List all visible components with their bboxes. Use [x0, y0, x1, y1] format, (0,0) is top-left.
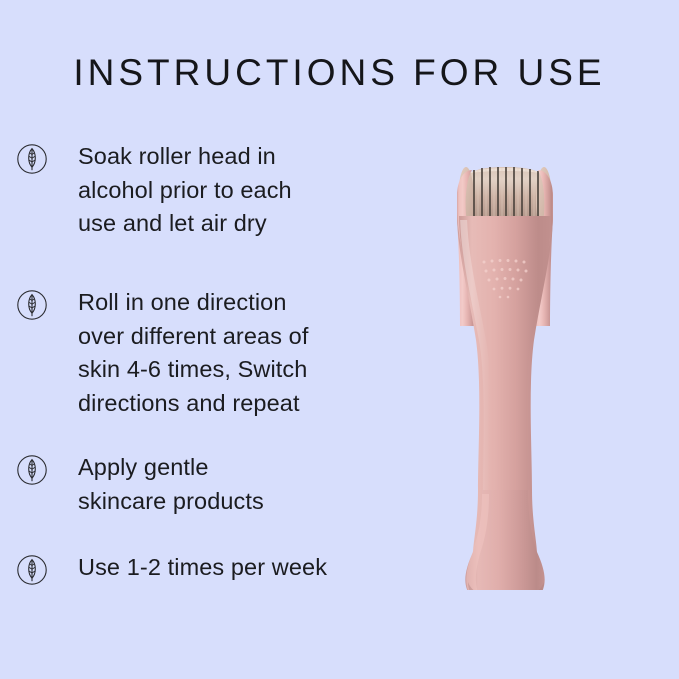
leaf-in-circle-icon [16, 454, 48, 486]
instruction-step: Use 1-2 times per week [16, 551, 327, 586]
instruction-text: Soak roller head in alcohol prior to eac… [78, 140, 292, 241]
derma-roller-product-image [410, 150, 600, 590]
page-title: INSTRUCTIONS FOR USE [0, 52, 679, 94]
instruction-text: Apply gentle skincare products [78, 451, 264, 518]
leaf-in-circle-icon [16, 554, 48, 586]
leaf-in-circle-icon [16, 143, 48, 175]
poster-canvas: INSTRUCTIONS FOR USE Soak roller head in… [0, 0, 679, 679]
instruction-step: Roll in one direction over different are… [16, 286, 308, 420]
instruction-text: Roll in one direction over different are… [78, 286, 308, 420]
leaf-in-circle-icon [16, 289, 48, 321]
instruction-text: Use 1-2 times per week [78, 551, 327, 585]
instruction-step: Soak roller head in alcohol prior to eac… [16, 140, 292, 241]
instruction-step: Apply gentle skincare products [16, 451, 264, 518]
